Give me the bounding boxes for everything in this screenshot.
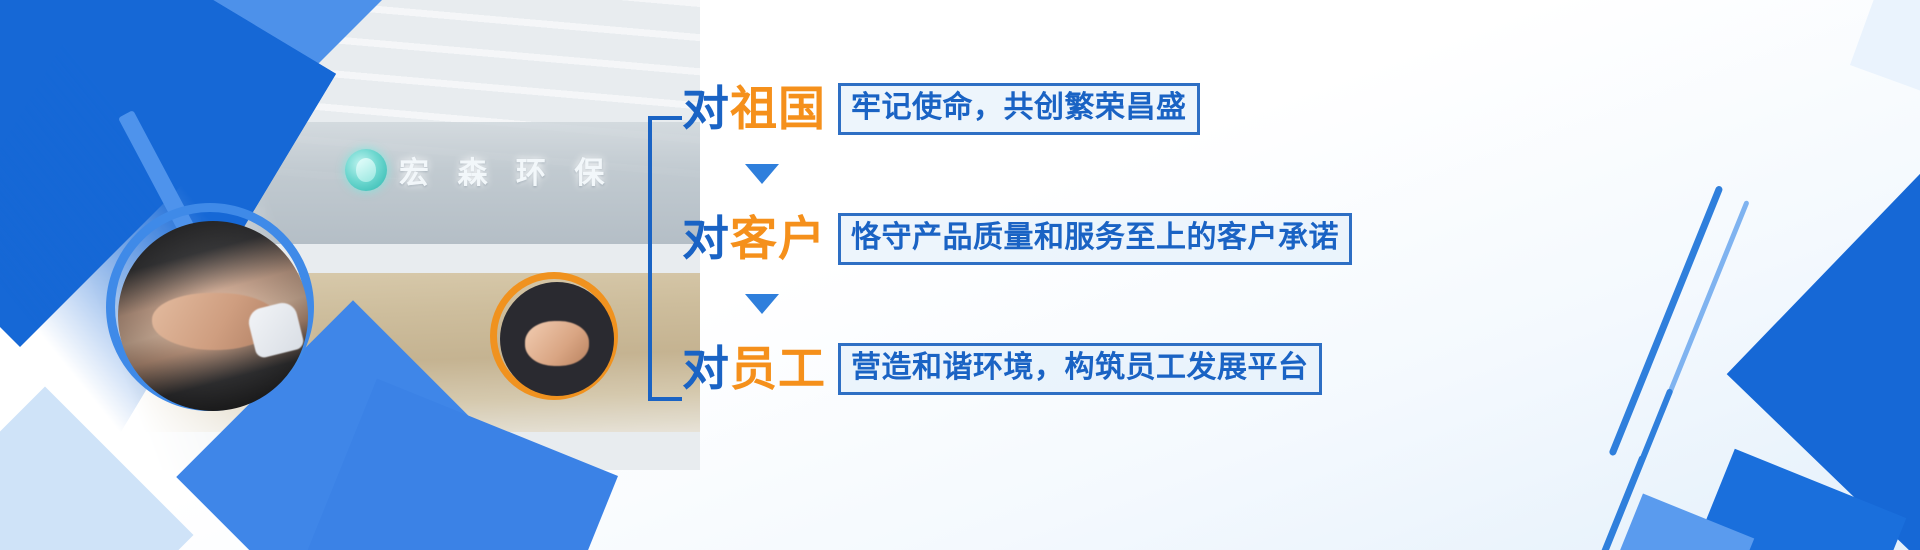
reception-sign: 宏 森 环 保 bbox=[345, 148, 613, 192]
value-tagline-employee: 营造和谐环境，构筑员工发展平台 bbox=[838, 343, 1322, 395]
value-heading-country: 对祖国 bbox=[682, 86, 826, 133]
row-separator-1 bbox=[682, 146, 842, 202]
value-heading-keyword: 祖国 bbox=[730, 82, 826, 137]
value-heading-keyword: 客户 bbox=[730, 212, 826, 267]
applause-photo bbox=[500, 282, 614, 396]
value-row-country: 对祖国 牢记使命，共创繁荣昌盛 bbox=[682, 72, 1388, 146]
handshake-photo bbox=[118, 221, 308, 411]
values-content: 对祖国 牢记使命，共创繁荣昌盛 对客户 恪守产品质量和服务至上的客户承诺 对员工 bbox=[648, 72, 1388, 462]
arrow-down-icon bbox=[745, 294, 779, 314]
arrow-down-icon bbox=[745, 164, 779, 184]
value-tagline-customer: 恪守产品质量和服务至上的客户承诺 bbox=[838, 213, 1352, 265]
value-heading-prefix: 对 bbox=[682, 82, 730, 137]
values-row-list: 对祖国 牢记使命，共创繁荣昌盛 对客户 恪守产品质量和服务至上的客户承诺 对员工 bbox=[682, 72, 1388, 406]
company-sign-text: 宏 森 环 保 bbox=[399, 148, 613, 192]
decor-line-1 bbox=[1608, 185, 1723, 457]
decor-quad-top-right bbox=[1850, 0, 1920, 106]
value-heading-employee: 对员工 bbox=[682, 346, 826, 393]
value-heading-keyword: 员工 bbox=[730, 342, 826, 397]
value-heading-prefix: 对 bbox=[682, 212, 730, 267]
value-tagline-country: 牢记使命，共创繁荣昌盛 bbox=[838, 83, 1200, 135]
photo-collage: 宏 森 环 保 bbox=[0, 0, 700, 550]
value-row-customer: 对客户 恪守产品质量和服务至上的客户承诺 bbox=[682, 202, 1388, 276]
row-separator-2 bbox=[682, 276, 842, 332]
value-heading-customer: 对客户 bbox=[682, 216, 826, 263]
value-heading-prefix: 对 bbox=[682, 342, 730, 397]
value-row-employee: 对员工 营造和谐环境，构筑员工发展平台 bbox=[682, 332, 1388, 406]
company-logo-icon bbox=[345, 149, 387, 191]
company-values-banner: 宏 森 环 保 对祖国 牢记使命，共创繁荣昌盛 bbox=[0, 0, 1920, 550]
bracket-connector-icon bbox=[648, 116, 682, 401]
